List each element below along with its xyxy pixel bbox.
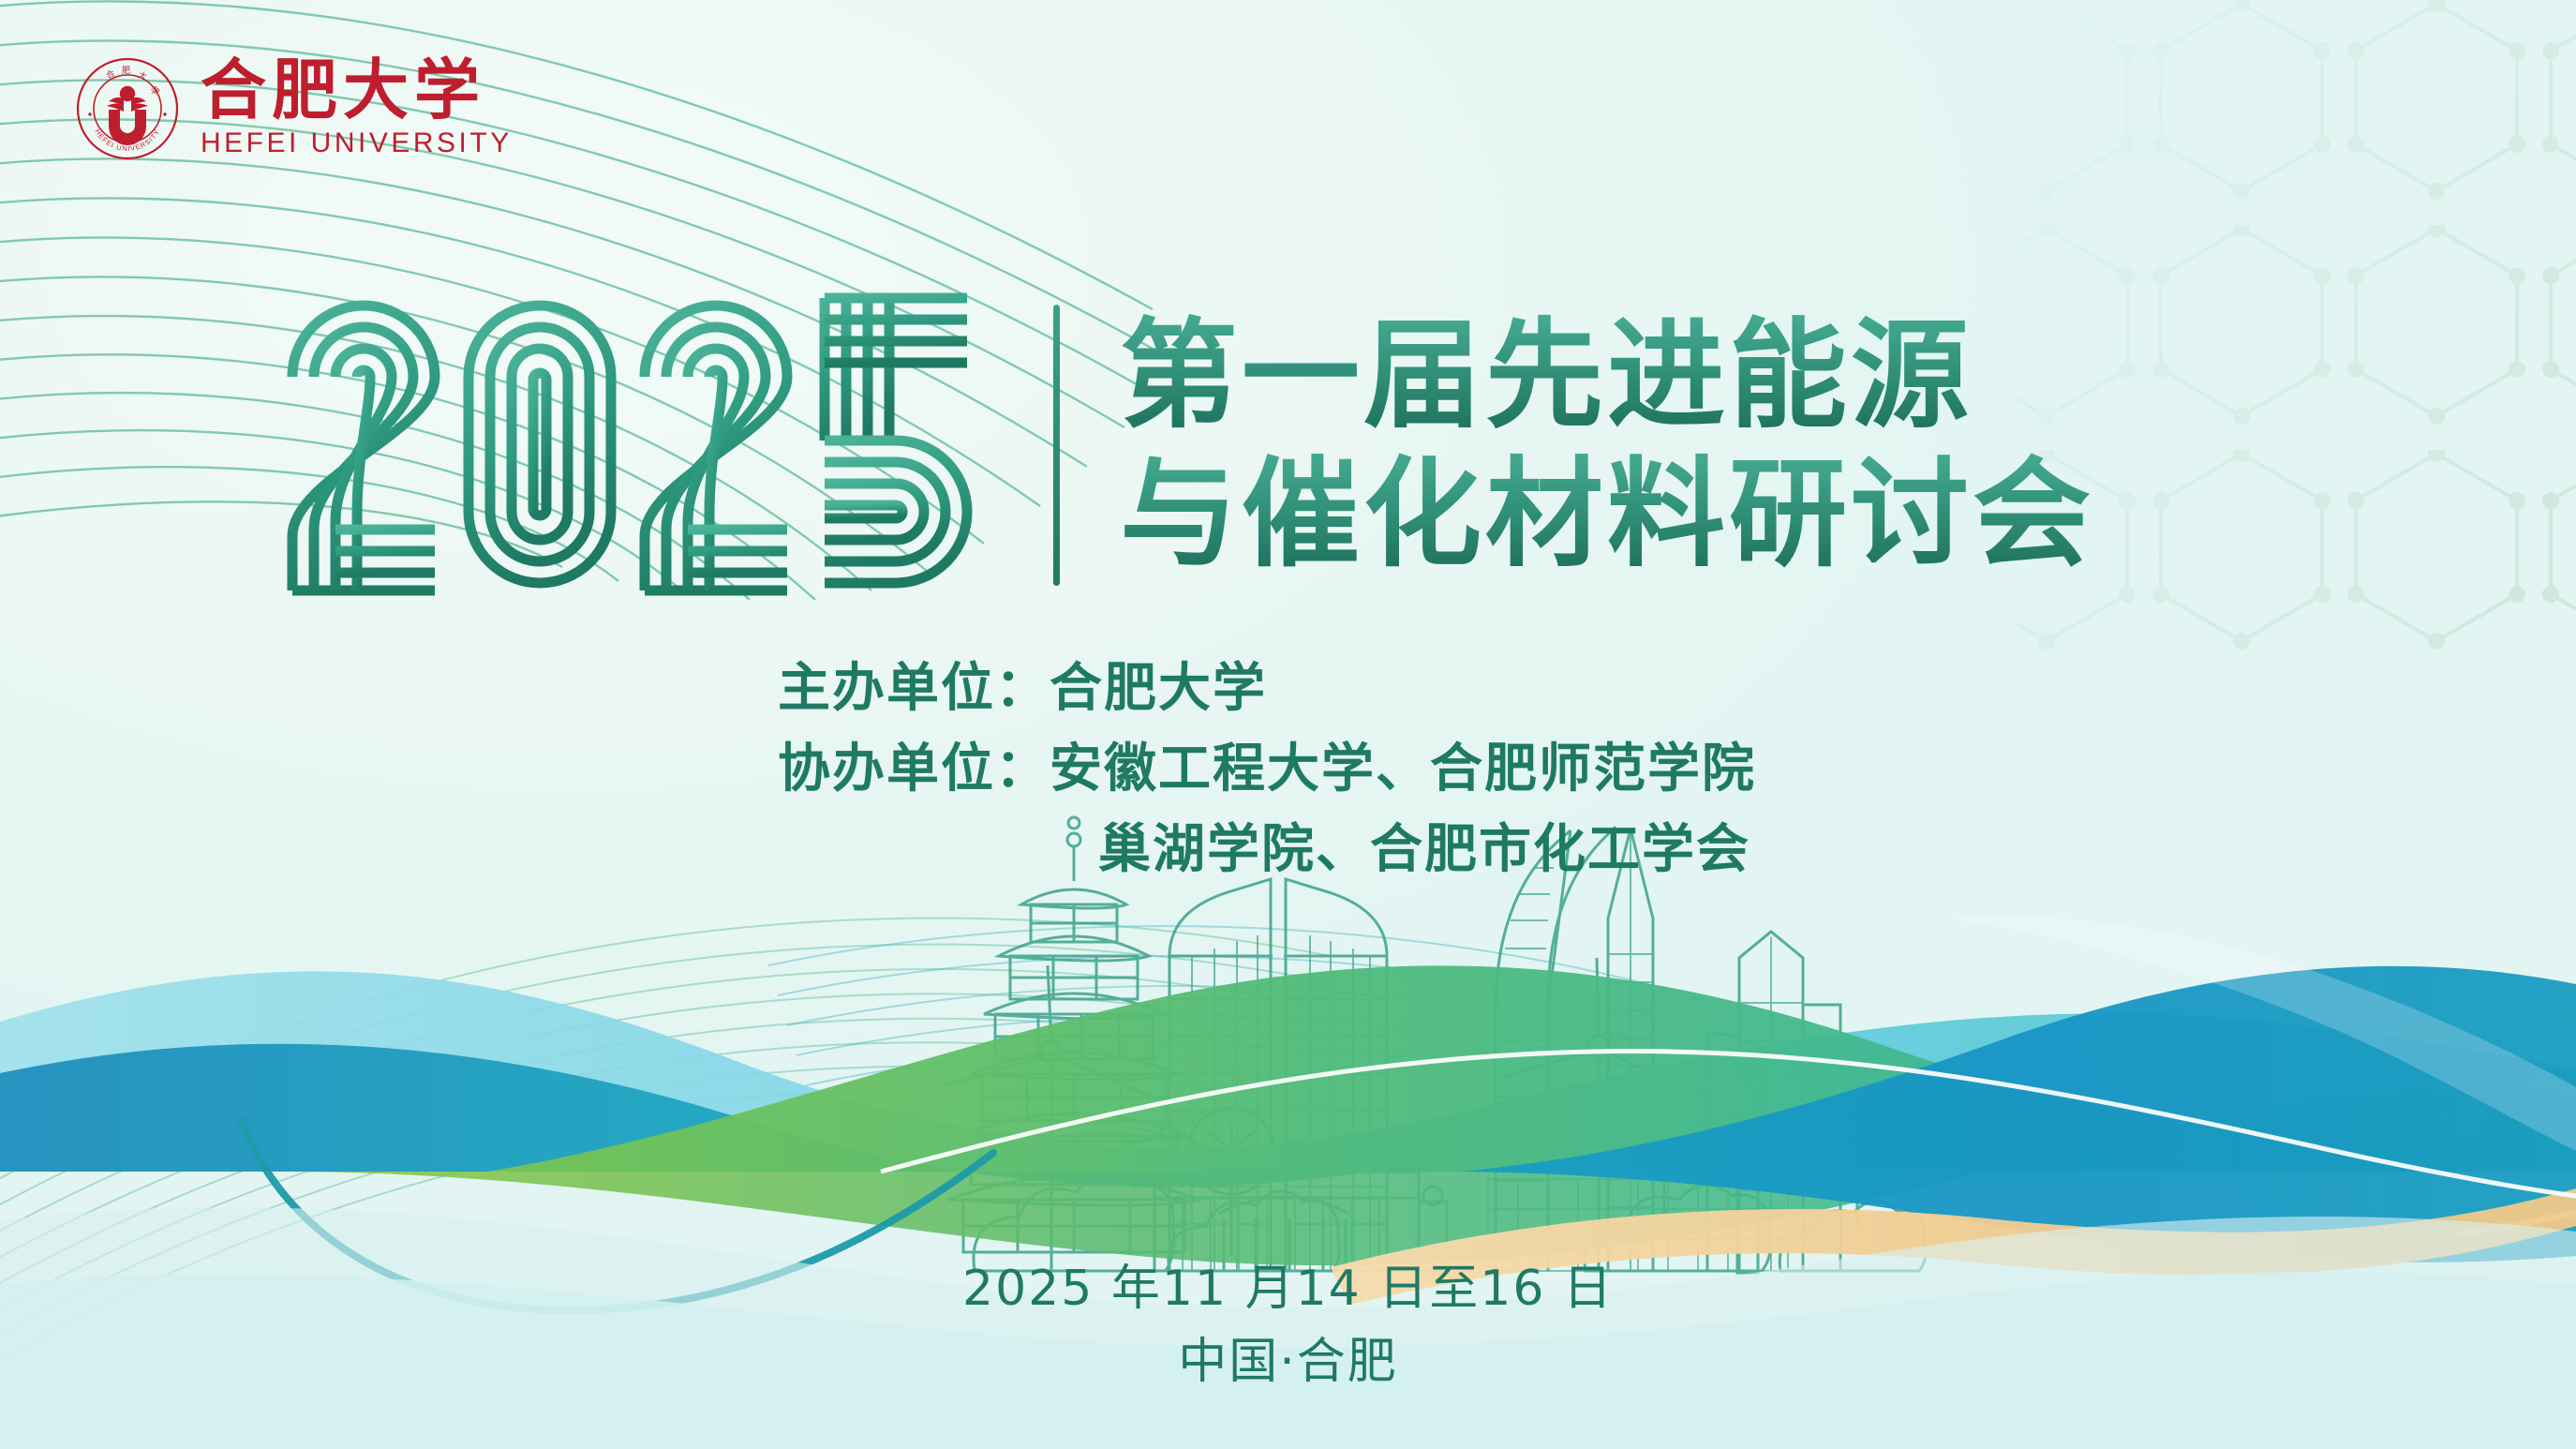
year-2025-graphic — [281, 281, 993, 609]
conference-title-line-1: 第一届先进能源 — [1120, 313, 2094, 439]
conference-banner: 合 肥 大 學 HEFEI UNIVERSITY 合肥大学 HEFEI UNIV… — [0, 0, 2576, 1449]
conference-title: 第一届先进能源 与催化材料研讨会 — [1120, 313, 2094, 576]
logo-wordmark-en: HEFEI UNIVERSITY — [201, 127, 513, 159]
organizer-row-co-host: 协办单位： 安徽工程大学、合肥师范学院 — [778, 737, 1756, 802]
organizer-value-host: 合肥大学 — [1050, 656, 1267, 722]
organizer-value-co-host: 安徽工程大学、合肥师范学院 — [1050, 737, 1756, 802]
hefei-university-logo: 合 肥 大 學 HEFEI UNIVERSITY 合肥大学 HEFEI UNIV… — [75, 56, 513, 161]
footer-block: 2025 年11 月14 日至16 日 中国·合肥 — [0, 1256, 2576, 1395]
conference-location: 中国·合肥 — [0, 1329, 2576, 1395]
organizer-value-co-host-cont: 巢湖学院、合肥市化工学会 — [1098, 817, 1750, 883]
svg-text:合: 合 — [104, 67, 116, 82]
svg-text:學: 學 — [148, 84, 162, 98]
organizers-block: 主办单位： 合肥大学 协办单位： 安徽工程大学、合肥师范学院 巢湖学院、合肥市化… — [778, 656, 1756, 883]
hefei-university-seal-icon: 合 肥 大 學 HEFEI UNIVERSITY — [75, 56, 180, 161]
svg-text:肥: 肥 — [122, 66, 130, 76]
logo-wordmark-cn: 合肥大学 — [201, 58, 513, 121]
organizer-row-co-host-cont: 巢湖学院、合肥市化工学会 — [778, 817, 1756, 883]
organizer-row-host: 主办单位： 合肥大学 — [778, 656, 1756, 722]
conference-title-line-2: 与催化材料研讨会 — [1120, 452, 2094, 577]
headline-block: 第一届先进能源 与催化材料研讨会 — [281, 281, 2094, 609]
organizer-label-host: 主办单位： — [778, 656, 1050, 722]
headline-divider — [1053, 305, 1060, 586]
conference-date: 2025 年11 月14 日至16 日 — [0, 1256, 2576, 1322]
logo-wordmark: 合肥大学 HEFEI UNIVERSITY — [201, 58, 513, 158]
organizer-label-co-host: 协办单位： — [778, 737, 1050, 802]
